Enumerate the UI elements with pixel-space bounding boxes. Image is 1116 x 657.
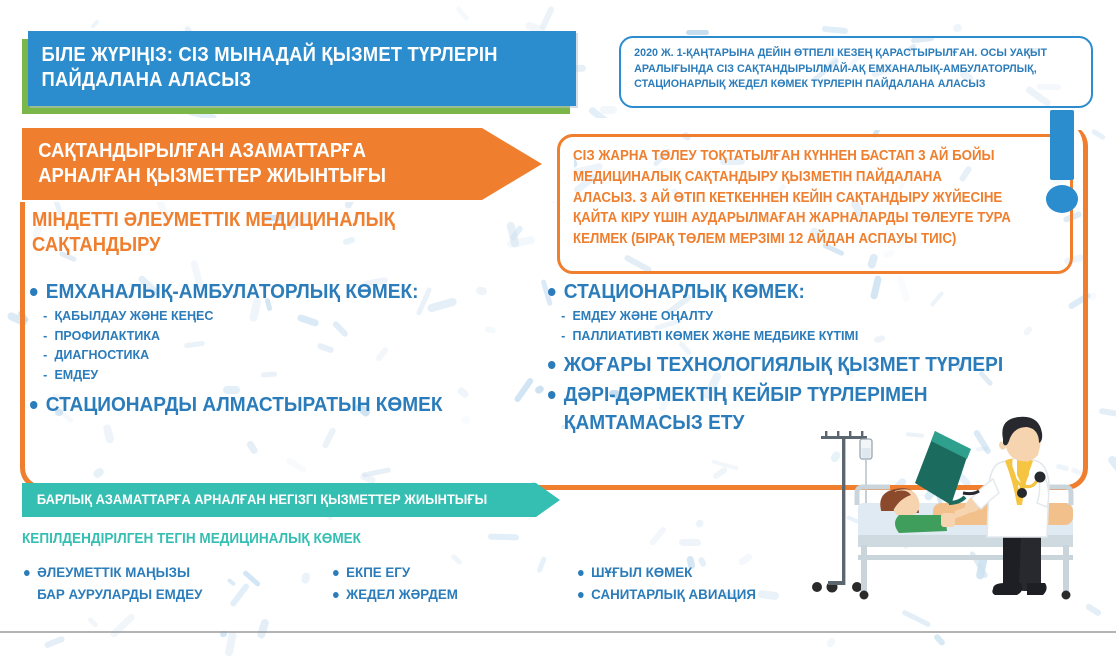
- list-item: ЕКПЕ ЕГУ: [333, 562, 559, 584]
- list-item-label: САНИТАРЛЫҚ АВИАЦИЯ: [591, 584, 756, 606]
- transition-period-note-text: 2020 Ж. 1-ҚАҢТАРЫНА ДЕЙІН ӨТПЕЛІ КЕЗЕҢ Қ…: [621, 38, 1063, 93]
- list-item-label: ЕМХАНАЛЫҚ-АМБУЛАТОРЛЫҚ КӨМЕК:: [46, 278, 419, 306]
- bullet-dot-icon: [333, 570, 339, 576]
- bullet-dot-icon: [24, 570, 30, 576]
- transition-period-note-box: 2020 Ж. 1-ҚАҢТАРЫНА ДЕЙІН ӨТПЕЛІ КЕЗЕҢ Қ…: [619, 36, 1093, 108]
- list-item: ҚАБЫЛДАУ ЖӘНЕ КЕҢЕС: [30, 306, 509, 326]
- all-citizens-column-2: ЕКПЕ ЕГУ ЖЕДЕЛ ЖӘРДЕМ: [333, 562, 573, 606]
- main-header: БІЛЕ ЖҮРІҢІЗ: СІЗ МЫНАДАЙ ҚЫЗМЕТ ТҮРЛЕРІ…: [22, 31, 576, 114]
- bullet-dot-icon: [548, 288, 555, 296]
- payment-warning-text: СІЗ ЖАРНА ТӨЛЕУ ТОҚТАТЫЛҒАН КҮННЕН БАСТА…: [560, 137, 1034, 250]
- list-item: ЕМДЕУ ЖӘНЕ ОҢАЛТУ: [548, 306, 1046, 326]
- bullet-dot-icon: [548, 391, 555, 399]
- list-item: ЕМХАНАЛЫҚ-АМБУЛАТОРЛЫҚ КӨМЕК:: [30, 278, 504, 306]
- list-item: СТАЦИОНАРЛЫҚ КӨМЕК:: [548, 278, 1041, 306]
- list-item: ӘЛЕУМЕТТІК МАҢЫЗЫ БАР АУРУЛАРДЫ ЕМДЕУ: [24, 562, 306, 606]
- list-item-label: ӘЛЕУМЕТТІК МАҢЫЗЫ БАР АУРУЛАРДЫ ЕМДЕУ: [37, 562, 202, 606]
- bullet-dot-icon: [30, 401, 37, 409]
- list-item: ЖОҒАРЫ ТЕХНОЛОГИЯЛЫҚ ҚЫЗМЕТ ТҮРЛЕРІ: [548, 351, 1041, 379]
- list-item: ЖЕДЕЛ ЖӘРДЕМ: [333, 584, 559, 606]
- doctor-and-patient-illustration: [795, 415, 1105, 630]
- all-citizens-banner-label: БАРЛЫҚ АЗАМАТТАРҒА АРНАЛҒАН НЕГІЗГІ ҚЫЗМ…: [22, 483, 487, 517]
- doctor-icon: [965, 417, 1049, 595]
- compulsory-insurance-subheading: МІНДЕТТІ ӘЛЕУМЕТТІК МЕДИЦИНАЛЫҚ САҚТАНДЫ…: [32, 208, 464, 258]
- all-citizens-column-3: ШҰҒЫЛ КӨМЕК САНИТАРЛЫҚ АВИАЦИЯ: [578, 562, 828, 606]
- exclamation-mark-icon: [1050, 110, 1074, 180]
- list-item: ДИАГНОСТИКА: [30, 345, 509, 365]
- guaranteed-free-care-subheading: КЕПІЛДЕНДІРІЛГЕН ТЕГІН МЕДИЦИНАЛЫҚ КӨМЕК: [22, 531, 361, 547]
- bullet-dot-icon: [548, 361, 555, 369]
- list-item: САНИТАРЛЫҚ АВИАЦИЯ: [578, 584, 813, 606]
- exclamation-mark-dot-icon: [1046, 185, 1078, 213]
- list-item-label: ЕКПЕ ЕГУ: [346, 562, 410, 584]
- insured-left-column: ЕМХАНАЛЫҚ-АМБУЛАТОРЛЫҚ КӨМЕК: ҚАБЫЛДАУ Ж…: [30, 278, 540, 419]
- page-title: БІЛЕ ЖҮРІҢІЗ: СІЗ МЫНАДАЙ ҚЫЗМЕТ ТҮРЛЕРІ…: [28, 31, 521, 92]
- frame-mask-top-right: [556, 118, 1092, 130]
- insured-right-column: СТАЦИОНАРЛЫҚ КӨМЕК: ЕМДЕУ ЖӘНЕ ОҢАЛТУ ПА…: [548, 278, 1078, 437]
- list-item-label: СТАЦИОНАРДЫ АЛМАСТЫРАТЫН КӨМЕК: [46, 391, 443, 419]
- clipboard-icon: [915, 431, 979, 505]
- insured-section-banner: САҚТАНДЫРЫЛҒАН АЗАМАТТАРҒА АРНАЛҒАН ҚЫЗМ…: [22, 128, 542, 200]
- bullet-dot-icon: [578, 592, 584, 598]
- bullet-dot-icon: [333, 592, 339, 598]
- header-blue-bar: БІЛЕ ЖҮРІҢІЗ: СІЗ МЫНАДАЙ ҚЫЗМЕТ ТҮРЛЕРІ…: [28, 31, 576, 106]
- list-item-label: ЖОҒАРЫ ТЕХНОЛОГИЯЛЫҚ ҚЫЗМЕТ ТҮРЛЕРІ: [564, 351, 1003, 379]
- all-citizens-column-1: ӘЛЕУМЕТТІК МАҢЫЗЫ БАР АУРУЛАРДЫ ЕМДЕУ: [24, 562, 324, 606]
- list-item: ПАЛЛИАТИВТІ КӨМЕК ЖӘНЕ МЕДБИКЕ КҮТІМІ: [548, 326, 1046, 346]
- list-item-label: СТАЦИОНАРЛЫҚ КӨМЕК:: [564, 278, 805, 306]
- list-item: ЕМДЕУ: [30, 365, 509, 385]
- list-item: СТАЦИОНАРДЫ АЛМАСТЫРАТЫН КӨМЕК: [30, 391, 504, 419]
- bullet-dot-icon: [30, 288, 37, 296]
- all-citizens-banner: БАРЛЫҚ АЗАМАТТАРҒА АРНАЛҒАН НЕГІЗГІ ҚЫЗМ…: [22, 483, 560, 517]
- payment-warning-callout: СІЗ ЖАРНА ТӨЛЕУ ТОҚТАТЫЛҒАН КҮННЕН БАСТА…: [557, 134, 1073, 274]
- insured-section-banner-label: САҚТАНДЫРЫЛҒАН АЗАМАТТАРҒА АРНАЛҒАН ҚЫЗМ…: [22, 128, 490, 188]
- list-item: ПРОФИЛАКТИКА: [30, 326, 509, 346]
- list-item-label: ЖЕДЕЛ ЖӘРДЕМ: [346, 584, 458, 606]
- list-item-label: ШҰҒЫЛ КӨМЕК: [591, 562, 692, 584]
- list-item: ШҰҒЫЛ КӨМЕК: [578, 562, 813, 584]
- bullet-dot-icon: [578, 570, 584, 576]
- bottom-divider: [0, 631, 1116, 633]
